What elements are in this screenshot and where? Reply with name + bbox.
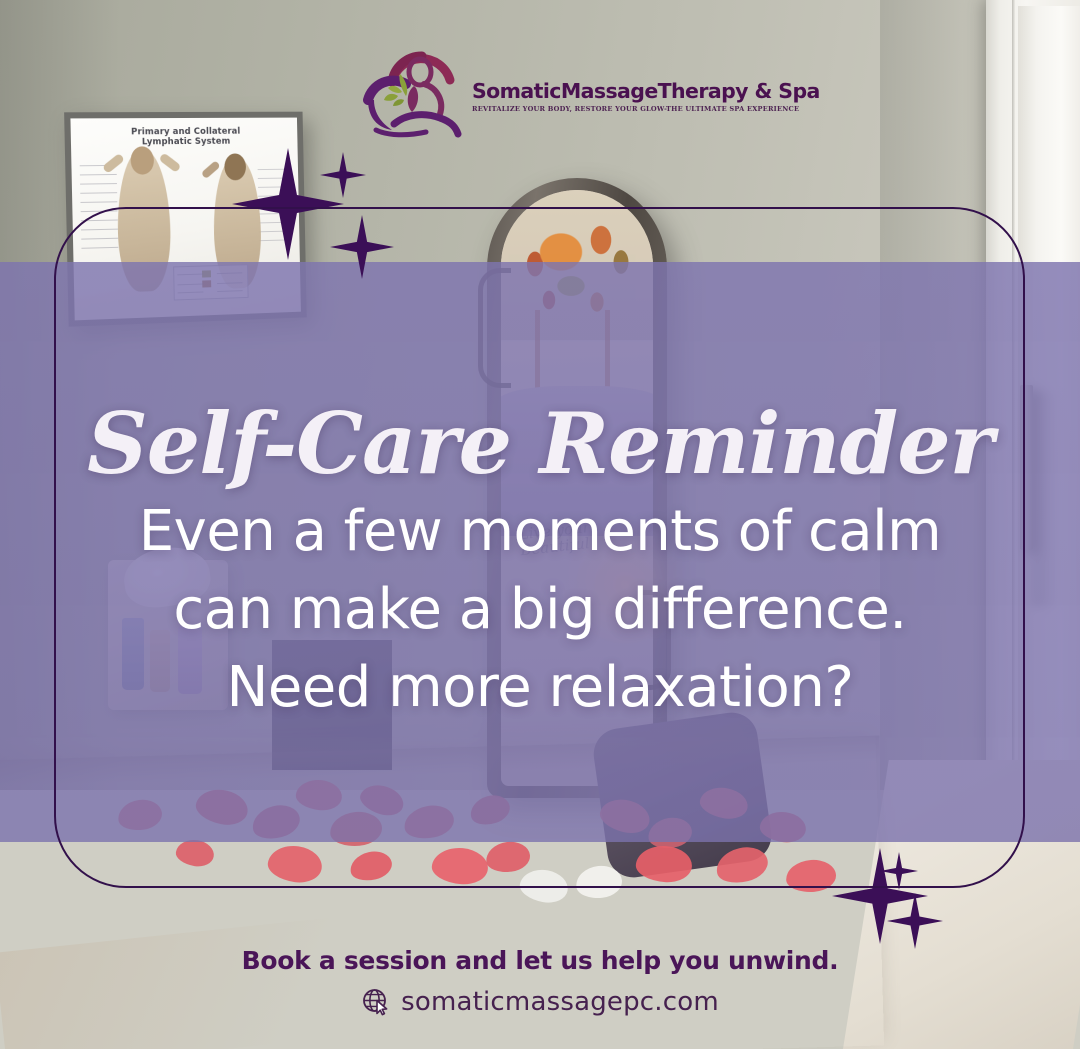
logo-tagline: REVITALIZE YOUR BODY, RESTORE YOUR GLOW-… [472, 105, 820, 113]
sparkle-small-top-mid-icon [320, 152, 366, 198]
social-post-canvas: Primary and Collateral Lymphatic System [0, 0, 1080, 1049]
logo-brand-name: SomaticMassageTherapy & Spa [472, 80, 820, 102]
sparkle-medium-bottom-right-icon [887, 893, 943, 949]
headline-body-line1: Even a few moments of calm [0, 496, 1080, 568]
footer-website-row[interactable]: somaticmassagepc.com [0, 987, 1080, 1017]
logo-text-block: SomaticMassageTherapy & Spa REVITALIZE Y… [472, 76, 820, 113]
poster-figure-back-arm [201, 160, 221, 179]
headline-block: Self-Care Reminder Even a few moments of… [0, 398, 1080, 724]
headline-body-line3: Need more relaxation? [0, 652, 1080, 724]
page-title: Self-Care Reminder [0, 398, 1080, 490]
footer-block: Book a session and let us help you unwin… [0, 946, 1080, 1017]
headline-body-line2: can make a big difference. [0, 574, 1080, 646]
spa-massage-logo-icon [362, 48, 462, 140]
sparkle-small-bottom-right-icon [880, 852, 918, 890]
poster-figure-front-head [130, 146, 154, 174]
brand-logo: SomaticMassageTherapy & Spa REVITALIZE Y… [362, 46, 752, 142]
footer-cta-text: Book a session and let us help you unwin… [0, 946, 1080, 975]
poster-annotation-lines-left [80, 165, 119, 257]
poster-title: Primary and Collateral Lymphatic System [71, 126, 298, 148]
globe-cursor-icon [361, 987, 391, 1017]
footer-website-url[interactable]: somaticmassagepc.com [401, 987, 719, 1017]
poster-title-line2: Lymphatic System [71, 136, 298, 148]
sparkle-medium-top-mid-icon [330, 215, 394, 279]
poster-figure-arm-right [158, 152, 181, 173]
